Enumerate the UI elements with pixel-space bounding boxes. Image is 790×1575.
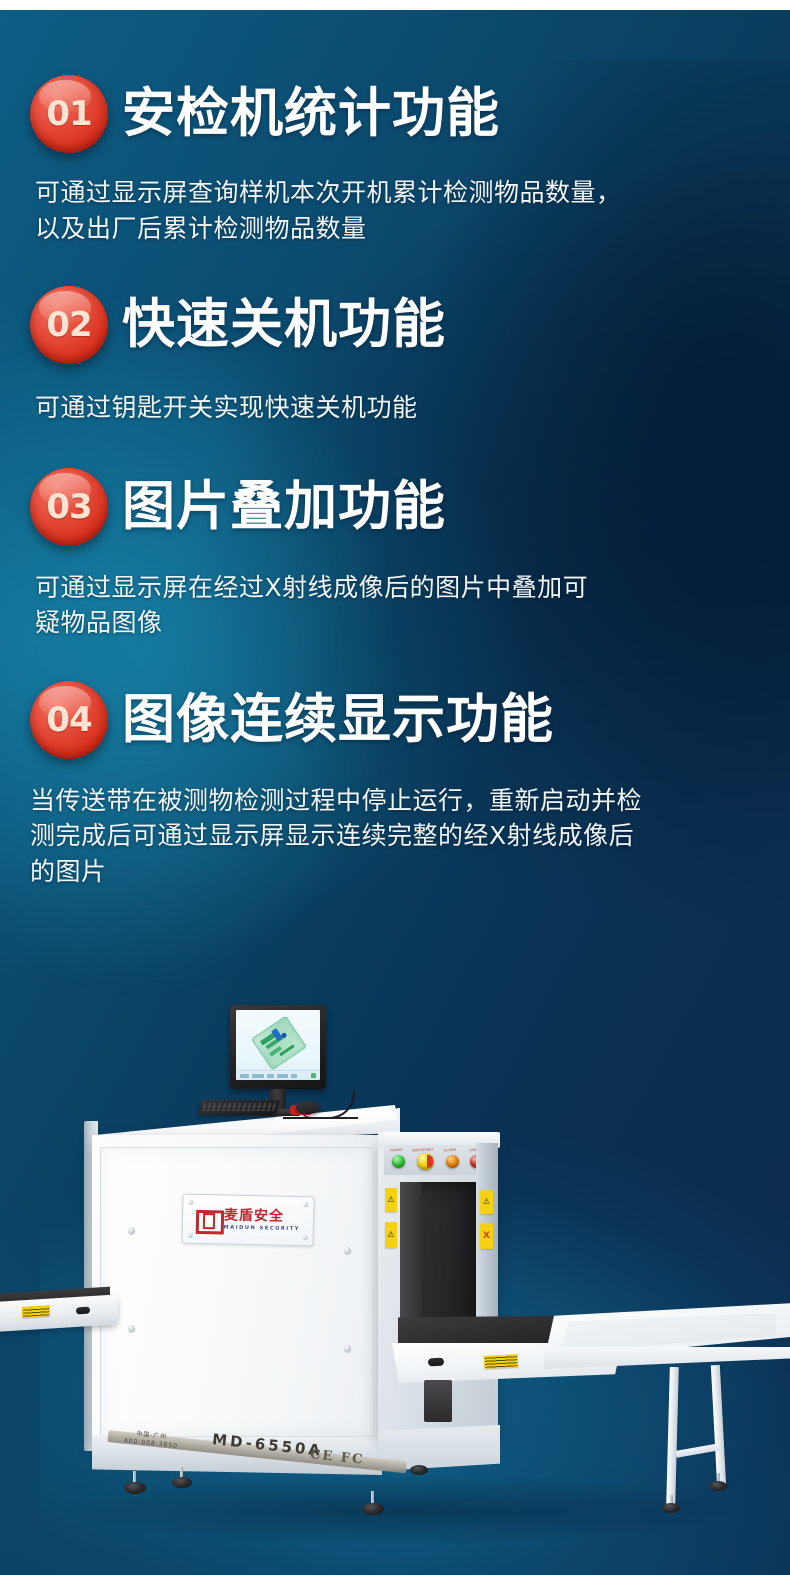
brand-text-block: 麦盾安全 MAIDUN SECURITY xyxy=(224,1208,301,1232)
exit-table-leg xyxy=(711,1365,726,1487)
feature-body-02: 可通过钥匙开关实现快速关机功能 xyxy=(35,390,755,426)
brand-name-en: MAIDUN SECURITY xyxy=(224,1225,300,1232)
number-badge-04: 04 xyxy=(30,681,108,759)
feature-body-03: 可通过显示屏在经过X射线成像后的图片中叠加可 疑物品图像 xyxy=(35,570,755,641)
badge-number-text: 02 xyxy=(46,305,91,345)
number-badge-01: 01 xyxy=(30,75,108,153)
caution-sticker: ⚠ xyxy=(385,1188,397,1212)
plate-screw xyxy=(303,1235,308,1240)
floor-shadow xyxy=(70,1475,730,1545)
keyboard xyxy=(198,1100,280,1115)
brand-logo-icon xyxy=(196,1210,218,1228)
product-feature-page: 01 安检机统计功能 可通过显示屏查询样机本次开机累计检测物品数量， 以及出厂后… xyxy=(0,0,790,1575)
number-badge-03: 03 xyxy=(30,468,108,546)
emergency-button-label: EMERGENCY xyxy=(412,1147,434,1152)
badge-number-text: 03 xyxy=(46,487,91,527)
conveyor-motor-housing xyxy=(424,1380,452,1422)
badge-number-text: 01 xyxy=(46,94,91,134)
feature-title-03: 图片叠加功能 xyxy=(122,479,446,534)
status-indicator xyxy=(311,1073,316,1078)
monitor-bezel xyxy=(230,1005,326,1089)
leveling-foot-pad xyxy=(709,1481,727,1491)
feature-item-01: 01 安检机统计功能 可通过显示屏查询样机本次开机累计检测物品数量， 以及出厂后… xyxy=(0,75,790,246)
leveling-foot-pad xyxy=(410,1465,428,1475)
caution-glyph: ⚠ xyxy=(387,1196,394,1204)
brand-plate: 麦盾安全 MAIDUN SECURITY xyxy=(181,1194,314,1247)
label-text-lines xyxy=(23,1306,49,1317)
origin-and-hotline: 中国·广州 400-008-3650 xyxy=(123,1429,179,1451)
feature-item-02: 02 快速关机功能 可通过钥匙开关实现快速关机功能 xyxy=(0,286,790,426)
panel-screw xyxy=(128,1227,135,1234)
leveling-foot-pad xyxy=(362,1503,384,1515)
monitor-screen xyxy=(236,1010,320,1080)
caution-sticker: ⚠ xyxy=(480,1190,493,1214)
caution-glyph: ⚠ xyxy=(483,1198,490,1206)
mouse xyxy=(296,1101,320,1114)
input-conveyor-warning-label xyxy=(22,1305,50,1318)
leveling-foot-pad xyxy=(662,1503,680,1513)
hotline-text: 400-008-3650 xyxy=(123,1437,178,1450)
feature-heading-02: 02 快速关机功能 xyxy=(30,286,790,364)
toolbar-chip xyxy=(277,1074,288,1078)
feature-body-04: 当传送带在被测物检测过程中停止运行，重新启动并检 测完成后可通过显示屏显示连续完… xyxy=(30,783,765,890)
xray-object xyxy=(279,1044,295,1056)
panel-screw xyxy=(344,1345,351,1352)
power-button-label: POWER xyxy=(390,1148,403,1153)
feature-heading-01: 01 安检机统计功能 xyxy=(30,75,790,153)
feature-title-02: 快速关机功能 xyxy=(122,297,446,352)
exit-table-brace xyxy=(676,1443,721,1458)
panel-screw xyxy=(344,1247,351,1254)
alarm-button-label: ALARM xyxy=(444,1148,456,1153)
feature-body-01: 可通过显示屏查询样机本次开机累计检测物品数量， 以及出厂后累计检测物品数量 xyxy=(35,175,755,246)
feature-item-03: 03 图片叠加功能 可通过显示屏在经过X射线成像后的图片中叠加可 疑物品图像 xyxy=(0,468,790,641)
caution-glyph: ⚠ xyxy=(387,1231,394,1239)
feature-title-04: 图像连续显示功能 xyxy=(122,692,554,747)
product-photo: POWER EMERGENCY ALARM LAMP ⚠ ⚠ ⚠ X xyxy=(0,995,790,1575)
exit-conveyor-handle[interactable] xyxy=(428,1358,444,1367)
feature-heading-04: 04 图像连续显示功能 xyxy=(30,681,790,759)
toolbar-chip xyxy=(252,1074,264,1078)
feature-list: 01 安检机统计功能 可通过显示屏查询样机本次开机累计检测物品数量， 以及出厂后… xyxy=(0,10,790,889)
caution-sticker: ⚠ xyxy=(385,1222,397,1248)
leveling-foot-pad xyxy=(172,1477,192,1488)
plate-screw xyxy=(303,1202,308,1207)
panel-screw xyxy=(128,1325,135,1332)
plate-screw xyxy=(188,1233,193,1238)
exit-conveyor-warning-label xyxy=(484,1354,519,1369)
feature-title-01: 安检机统计功能 xyxy=(122,86,500,141)
radiation-glyph: X xyxy=(483,1232,490,1241)
alarm-button[interactable] xyxy=(446,1155,459,1168)
exit-table-front-edge xyxy=(544,1347,790,1369)
toolbar-chip xyxy=(291,1074,297,1078)
brand-name-cn: 麦盾安全 xyxy=(224,1208,301,1224)
model-decal-strip: 中国·广州 400-008-3650 MD-6550A CE FC xyxy=(108,1424,408,1458)
plate-screw xyxy=(188,1200,193,1205)
power-button[interactable] xyxy=(392,1155,405,1168)
software-toolbar xyxy=(236,1070,320,1080)
feature-item-04: 04 图像连续显示功能 当传送带在被测物检测过程中停止运行，重新启动并检 测完成… xyxy=(0,681,790,890)
radiation-warning-sticker: X xyxy=(480,1223,493,1249)
logo-inner-shape xyxy=(203,1213,215,1229)
toolbar-chip xyxy=(267,1074,274,1078)
xray-scan-image xyxy=(251,1016,307,1071)
top-white-strip xyxy=(0,0,790,10)
feature-heading-03: 03 图片叠加功能 xyxy=(30,468,790,546)
number-badge-02: 02 xyxy=(30,286,108,364)
label-text-lines xyxy=(485,1355,518,1368)
toolbar-chip xyxy=(240,1074,249,1078)
badge-number-text: 04 xyxy=(46,700,91,740)
cabinet-access-panel xyxy=(100,1147,374,1437)
leveling-foot-pad xyxy=(124,1482,146,1494)
emergency-stop-button[interactable] xyxy=(417,1153,434,1170)
input-conveyor-handle[interactable] xyxy=(76,1307,90,1315)
